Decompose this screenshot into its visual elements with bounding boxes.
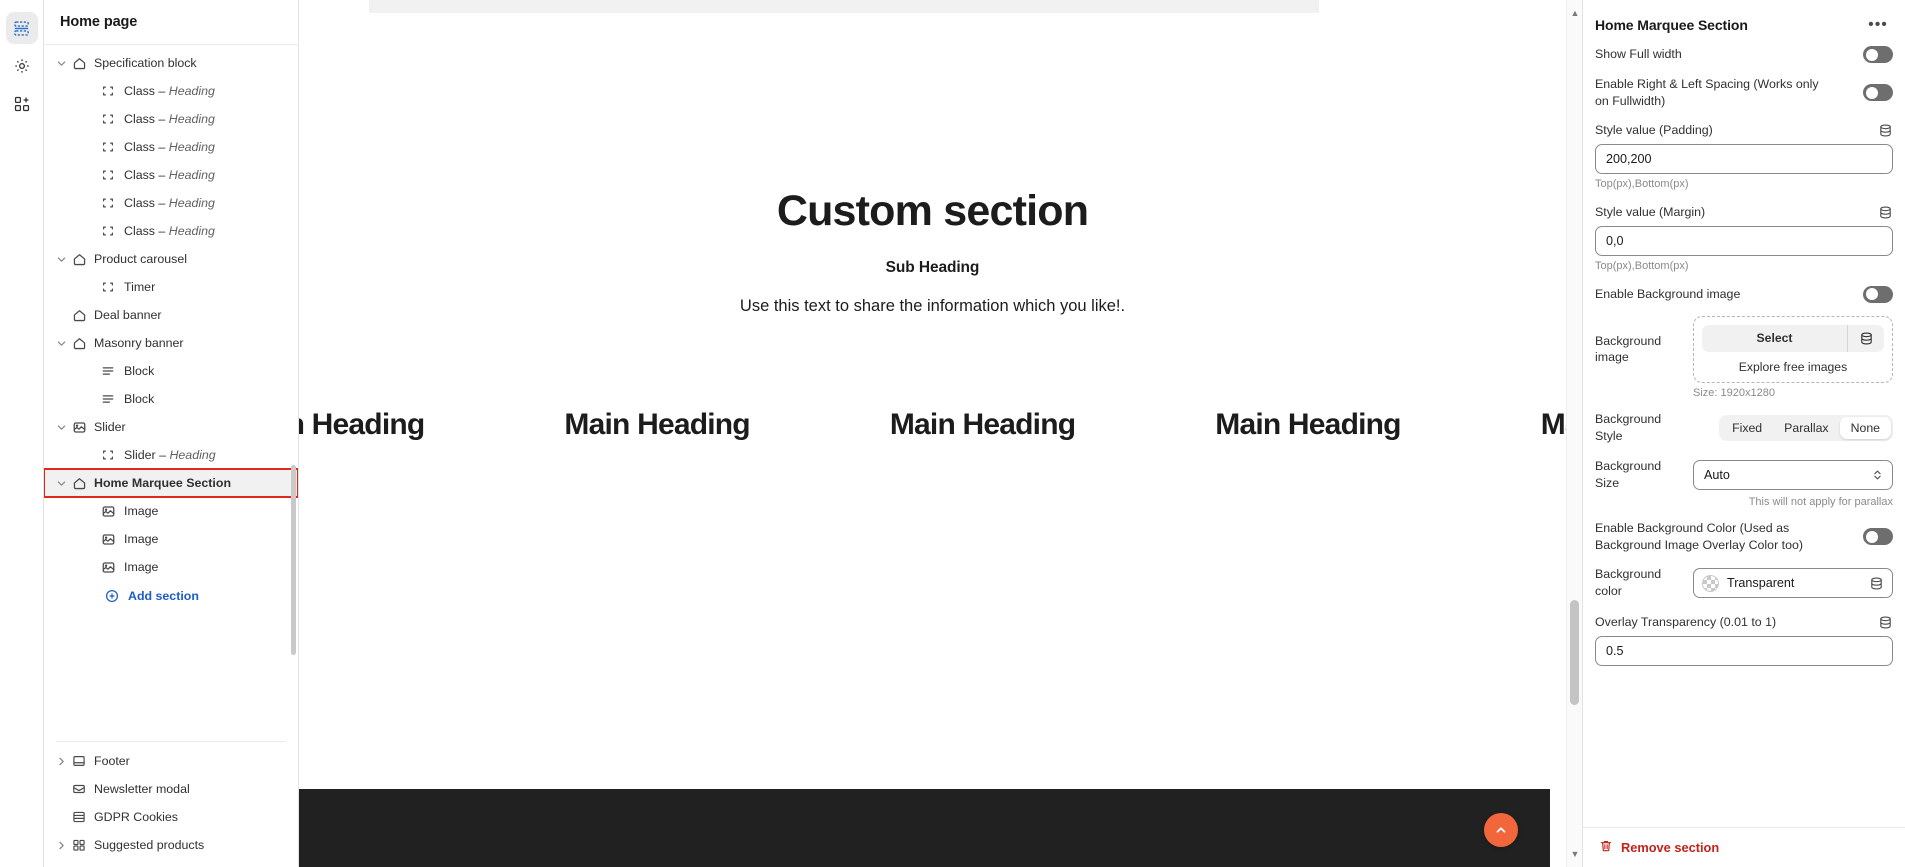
preview-page-topbar — [369, 0, 1319, 13]
block-icon — [100, 167, 116, 183]
padding-input[interactable]: 200,200 — [1595, 144, 1893, 174]
panel-settings-body: Show Full width Enable Right & Left Spac… — [1583, 46, 1905, 827]
background-size-value: Auto — [1704, 468, 1730, 482]
tree-item-label: Class – Heading — [124, 196, 215, 210]
image-icon — [100, 503, 116, 519]
enable-spacing-toggle[interactable] — [1863, 84, 1893, 101]
background-style-option-parallax[interactable]: Parallax — [1773, 417, 1839, 439]
scroll-to-top-button[interactable] — [1484, 813, 1518, 847]
section-tree[interactable]: Specification blockClass – HeadingClass … — [44, 45, 298, 736]
sidebar-bottom-list: FooterNewsletter modalGDPR CookiesSugges… — [44, 747, 298, 867]
tree-item-label: Image — [124, 532, 158, 546]
transparent-swatch-icon — [1702, 575, 1719, 592]
tree-item-slider[interactable]: Slider — [44, 413, 298, 441]
enable-bg-color-toggle[interactable] — [1863, 528, 1893, 545]
setting-background-image: Background image Select Explore free ima… — [1595, 316, 1893, 383]
canvas-scrollbar-thumb[interactable] — [1570, 600, 1579, 705]
dynamic-source-icon[interactable] — [1877, 205, 1893, 221]
show-full-width-label: Show Full width — [1595, 46, 1682, 63]
marquee-track: Main HeadingMain HeadingMain HeadingMain… — [299, 408, 1566, 442]
tree-item-label: Image — [124, 560, 158, 574]
block-icon — [100, 111, 116, 127]
setting-enable-bg-color: Enable Background Color (Used as Backgro… — [1595, 520, 1893, 553]
tree-item-masonry-banner[interactable]: Masonry banner — [44, 329, 298, 357]
tree-item-deal-banner[interactable]: Deal banner — [44, 301, 298, 329]
overlay-transparency-label: Overlay Transparency (0.01 to 1) — [1595, 614, 1776, 631]
sidebar-item-footer[interactable]: Footer — [44, 747, 298, 775]
dynamic-source-icon[interactable] — [1877, 123, 1893, 139]
tree-item-label: Masonry banner — [94, 336, 184, 350]
margin-hint: Top(px),Bottom(px) — [1595, 260, 1893, 272]
page-title: Home page — [60, 14, 137, 30]
block-icon — [100, 195, 116, 211]
sidebar-header: Home page — [44, 0, 298, 45]
image-icon — [100, 531, 116, 547]
tree-item-label: Deal banner — [94, 308, 162, 322]
home-marquee-section-preview[interactable]: Main HeadingMain HeadingMain HeadingMain… — [299, 392, 1566, 458]
sidebar-item-label: Newsletter modal — [94, 782, 190, 796]
more-options-icon[interactable]: ••• — [1865, 14, 1891, 36]
marquee-item: Main Heading — [820, 408, 1145, 442]
background-color-label: Background color — [1595, 566, 1683, 599]
tree-item-label: Block — [124, 392, 154, 406]
add-section-label: Add section — [128, 589, 199, 603]
tree-item-timer[interactable]: Timer — [44, 273, 298, 301]
enable-bg-color-label: Enable Background Color (Used as Backgro… — [1595, 520, 1831, 553]
tree-item-label: Class – Heading — [124, 224, 215, 238]
block-icon — [100, 139, 116, 155]
custom-section-subheading: Sub Heading — [299, 259, 1566, 277]
setting-show-full-width: Show Full width — [1595, 46, 1893, 63]
panel-header: Home Marquee Section ••• — [1583, 0, 1905, 46]
dynamic-source-icon[interactable] — [1848, 325, 1884, 352]
lines-icon — [100, 363, 116, 379]
background-style-label: Background Style — [1595, 411, 1683, 444]
home-icon — [71, 55, 87, 71]
trash-icon — [1599, 839, 1613, 856]
setting-enable-bg-image: Enable Background image — [1595, 286, 1893, 303]
background-image-label: Background image — [1595, 333, 1683, 366]
tree-item-label: Image — [124, 504, 158, 518]
padding-label: Style value (Padding) — [1595, 122, 1713, 139]
sidebar-item-gdpr-cookies[interactable]: GDPR Cookies — [44, 803, 298, 831]
tree-item-label: Home Marquee Section — [94, 476, 231, 490]
tree-item-label: Class – Heading — [124, 168, 215, 182]
tree-item-label: Slider – Heading — [124, 448, 216, 462]
tree-item-label: Slider — [94, 420, 126, 434]
block-icon — [100, 83, 116, 99]
marquee-item: Main Heading — [494, 408, 819, 442]
home-icon — [71, 251, 87, 267]
sidebar-item-label: Suggested products — [94, 838, 204, 852]
block-icon — [100, 447, 116, 463]
scroll-down-arrow-icon[interactable]: ▼ — [1567, 847, 1583, 861]
marquee-item: Main Heading — [1471, 408, 1566, 442]
footer-icon — [71, 753, 87, 769]
marquee-item: Main Heading — [299, 408, 494, 442]
tree-item-image[interactable]: Image — [44, 525, 298, 553]
sidebar-item-label: GDPR Cookies — [94, 810, 178, 824]
panel-title: Home Marquee Section — [1595, 17, 1748, 33]
enable-spacing-label: Enable Right & Left Spacing (Works only … — [1595, 76, 1831, 109]
enable-bg-image-label: Enable Background image — [1595, 286, 1740, 303]
overlay-transparency-input[interactable]: 0.5 — [1595, 636, 1893, 666]
setting-background-color: Background color Transparent — [1595, 566, 1893, 599]
cookies-icon — [71, 809, 87, 825]
background-style-option-fixed[interactable]: Fixed — [1721, 417, 1773, 439]
suggest-icon — [71, 837, 87, 853]
sidebar-divider — [56, 741, 286, 742]
show-full-width-toggle[interactable] — [1863, 46, 1893, 63]
tree-item-label: Block — [124, 364, 154, 378]
preview-viewport: Custom section Sub Heading Use this text… — [299, 0, 1566, 867]
apps-add-icon[interactable] — [6, 88, 38, 120]
chevron-down-icon[interactable] — [53, 475, 69, 491]
left-icon-rail — [0, 0, 44, 867]
sections-sidebar: Home page Specification blockClass – Hea… — [44, 0, 299, 867]
scroll-up-arrow-icon[interactable]: ▲ — [1567, 6, 1583, 20]
chevron-updown-icon — [1872, 468, 1883, 482]
tree-item-class[interactable]: Class – Heading — [44, 105, 298, 133]
background-image-dropzone[interactable]: Select Explore free images — [1693, 316, 1893, 383]
tree-item-class[interactable]: Class – Heading — [44, 77, 298, 105]
panel-footer: Remove section — [1583, 827, 1905, 867]
chevron-down-icon[interactable] — [53, 335, 69, 351]
margin-input[interactable]: 0,0 — [1595, 226, 1893, 256]
select-image-button[interactable]: Select — [1702, 325, 1847, 352]
tree-item-class[interactable]: Class – Heading — [44, 133, 298, 161]
tree-item-block[interactable]: Block — [44, 357, 298, 385]
home-icon — [71, 475, 87, 491]
background-size-select[interactable]: Auto — [1693, 460, 1893, 490]
tree-item-label: Timer — [124, 280, 155, 294]
setting-background-size: Background Size Auto — [1595, 458, 1893, 491]
background-style-option-none[interactable]: None — [1840, 417, 1891, 439]
remove-section-button[interactable]: Remove section — [1595, 839, 1893, 856]
tree-item-product-carousel[interactable]: Product carousel — [44, 245, 298, 273]
block-icon — [100, 279, 116, 295]
tree-item-class[interactable]: Class – Heading — [44, 217, 298, 245]
background-color-value: Transparent — [1727, 576, 1794, 590]
block-icon — [100, 223, 116, 239]
enable-bg-image-toggle[interactable] — [1863, 286, 1893, 303]
gear-icon[interactable] — [6, 50, 38, 82]
modal-icon — [71, 781, 87, 797]
padding-hint: Top(px),Bottom(px) — [1595, 178, 1893, 190]
remove-section-label: Remove section — [1621, 840, 1719, 855]
custom-section-preview: Custom section Sub Heading Use this text… — [299, 13, 1566, 316]
canvas-scrollbar[interactable]: ▲ ▼ — [1566, 0, 1582, 867]
sections-icon[interactable] — [6, 12, 38, 44]
image-icon — [71, 419, 87, 435]
lines-icon — [100, 391, 116, 407]
explore-free-images-link[interactable]: Explore free images — [1702, 360, 1884, 374]
tree-item-label: Specification block — [94, 56, 197, 70]
sidebar-scrollbar[interactable] — [291, 465, 296, 655]
marquee-item: Main Heading — [1145, 408, 1470, 442]
tree-item-label: Class – Heading — [124, 84, 215, 98]
theme-editor-app: Home page Specification blockClass – Hea… — [0, 0, 1905, 867]
sidebar-item-newsletter-modal[interactable]: Newsletter modal — [44, 775, 298, 803]
margin-label: Style value (Margin) — [1595, 204, 1705, 221]
tree-item-slider[interactable]: Slider – Heading — [44, 441, 298, 469]
section-settings-panel: Home Marquee Section ••• Show Full width… — [1583, 0, 1905, 867]
tree-item-block[interactable]: Block — [44, 385, 298, 413]
tree-item-label: Class – Heading — [124, 112, 215, 126]
plus-circle-icon — [104, 588, 120, 604]
sidebar-item-suggested-products[interactable]: Suggested products — [44, 831, 298, 859]
chevron-down-icon[interactable] — [53, 55, 69, 71]
tree-item-class[interactable]: Class – Heading — [44, 189, 298, 217]
setting-enable-spacing: Enable Right & Left Spacing (Works only … — [1595, 76, 1893, 109]
tree-item-image[interactable]: Image — [44, 553, 298, 581]
dynamic-source-icon[interactable] — [1877, 614, 1893, 630]
image-icon — [100, 559, 116, 575]
home-icon — [71, 335, 87, 351]
background-image-size-note: Size: 1920x1280 — [1693, 387, 1893, 399]
custom-section-heading: Custom section — [299, 188, 1566, 235]
home-icon — [71, 307, 87, 323]
tree-item-label: Class – Heading — [124, 140, 215, 154]
tree-item-specification-block[interactable]: Specification block — [44, 49, 298, 77]
background-color-picker[interactable]: Transparent — [1693, 568, 1893, 598]
tree-item-class[interactable]: Class – Heading — [44, 161, 298, 189]
add-section-button[interactable]: Add section — [44, 581, 298, 611]
chevron-right-icon[interactable] — [53, 837, 69, 853]
background-size-label: Background Size — [1595, 458, 1683, 491]
setting-background-style: Background Style FixedParallaxNone — [1595, 411, 1893, 444]
sidebar-item-label: Footer — [94, 754, 130, 768]
preview-footer-band — [299, 789, 1550, 867]
tree-item-label: Product carousel — [94, 252, 187, 266]
background-style-segmented-control[interactable]: FixedParallaxNone — [1719, 415, 1893, 441]
setting-padding: Style value (Padding) 200,200 Top(px),Bo… — [1595, 122, 1893, 190]
preview-canvas[interactable]: Custom section Sub Heading Use this text… — [299, 0, 1583, 867]
background-size-hint: This will not apply for parallax — [1595, 496, 1893, 508]
chevron-down-icon[interactable] — [53, 419, 69, 435]
chevron-down-icon[interactable] — [53, 251, 69, 267]
chevron-right-icon[interactable] — [53, 753, 69, 769]
tree-item-home-marquee-section[interactable]: Home Marquee Section — [44, 469, 298, 497]
custom-section-paragraph: Use this text to share the information w… — [299, 297, 1566, 316]
setting-margin: Style value (Margin) 0,0 Top(px),Bottom(… — [1595, 204, 1893, 272]
tree-item-image[interactable]: Image — [44, 497, 298, 525]
dynamic-source-icon[interactable] — [1868, 575, 1884, 591]
setting-overlay-transparency: Overlay Transparency (0.01 to 1) 0.5 — [1595, 614, 1893, 666]
